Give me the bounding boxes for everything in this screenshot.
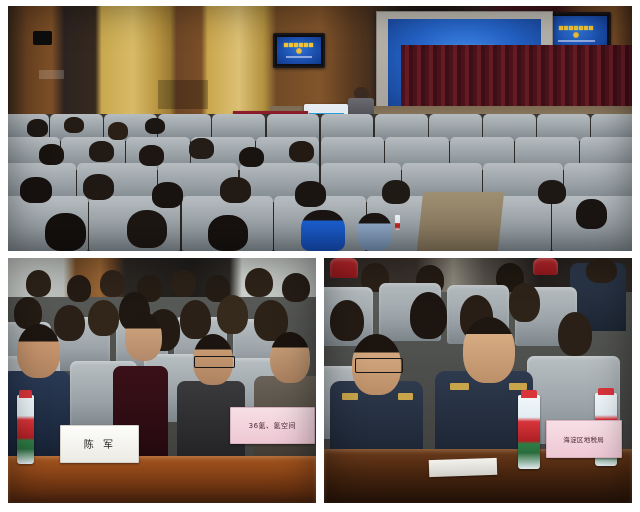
attendee-blue-jacket [301,210,345,251]
attendee [357,213,391,251]
attendee-head [270,332,310,383]
attendee [89,141,114,162]
name-card-chen-jun: 陈 军 [60,425,139,464]
photo-audience-right: 海淀区地税局 [324,258,632,503]
attendee-head [26,270,51,297]
attendee [538,180,566,205]
attendee [139,145,164,166]
wall-speaker-left [33,31,52,46]
left-monitor-slide-subtitle [286,56,312,58]
attendee-head [282,273,310,302]
water-bottle [518,395,540,469]
photo-auditorium-wide [8,6,632,251]
bottle-cap [19,390,32,397]
attendee-head [586,258,617,283]
attendee [239,147,264,168]
attendee [220,177,251,203]
attendee [289,141,314,162]
bottle-cap [521,390,538,397]
photo-collage: 陈 军 36氪、氪空间 [0,0,640,512]
attendee-head [217,295,248,334]
attendee [64,117,84,133]
left-monitor-screen [277,37,320,64]
epaulette [509,383,527,390]
left-monitor-slide-title [284,43,313,47]
attendee-head [180,300,211,339]
attendee [39,144,64,165]
epaulette [450,383,468,390]
left-monitor [273,33,324,68]
center-aisle [417,192,504,251]
attendee [152,182,183,208]
eyeglasses-icon [194,356,235,368]
name-card-haidian-tax-bureau: 海淀区地税局 [546,420,622,459]
attendee-head [54,305,85,342]
attendee [108,122,129,140]
attendee [27,119,48,137]
epaulette [398,393,413,400]
attendee-head [88,300,119,337]
name-card-36kr-text: 36氪、氪空间 [249,421,296,431]
water-bottle [17,395,34,464]
photo-audience-left: 陈 军 36氪、氪空间 [8,258,316,503]
attendee [127,210,168,248]
chair [330,258,358,278]
attendee [208,215,249,251]
handout-papers [428,458,496,477]
attendee-head [67,275,92,302]
water-bottle [395,215,400,230]
attendee-head [125,312,162,361]
name-card-chen-jun-text: 陈 军 [84,436,116,451]
right-monitor-emblem-icon [573,32,579,38]
name-card-36kr: 36氪、氪空间 [230,407,315,443]
attendee [20,177,51,203]
wall-plate [39,70,64,80]
attendee [576,199,607,229]
attendee [382,180,410,205]
stage-curtain [401,45,632,114]
attendee [83,174,114,200]
attendee-head [17,324,60,378]
chair [533,258,558,275]
wall-recess [158,80,208,109]
bottle-cap [598,388,615,395]
audience-seating [8,114,632,251]
name-card-haidian-tax-bureau-text: 海淀区地税局 [563,434,604,444]
attendee-head [509,283,540,322]
attendee [145,118,165,134]
attendee [45,213,86,251]
attendee-head [171,270,196,297]
officer-head [463,317,515,383]
left-monitor-emblem-icon [296,48,302,54]
eyeglasses-icon [355,358,403,372]
right-monitor-slide-subtitle [558,40,595,42]
attendee-head [558,312,592,356]
front-desk [8,456,316,503]
attendee-head [330,300,364,342]
epaulette [342,393,357,400]
attendee-head [100,270,125,297]
attendee-head [245,268,273,297]
right-monitor-slide-title [559,26,593,30]
attendee-head [410,292,447,339]
attendee [189,138,214,159]
attendee [295,181,326,207]
